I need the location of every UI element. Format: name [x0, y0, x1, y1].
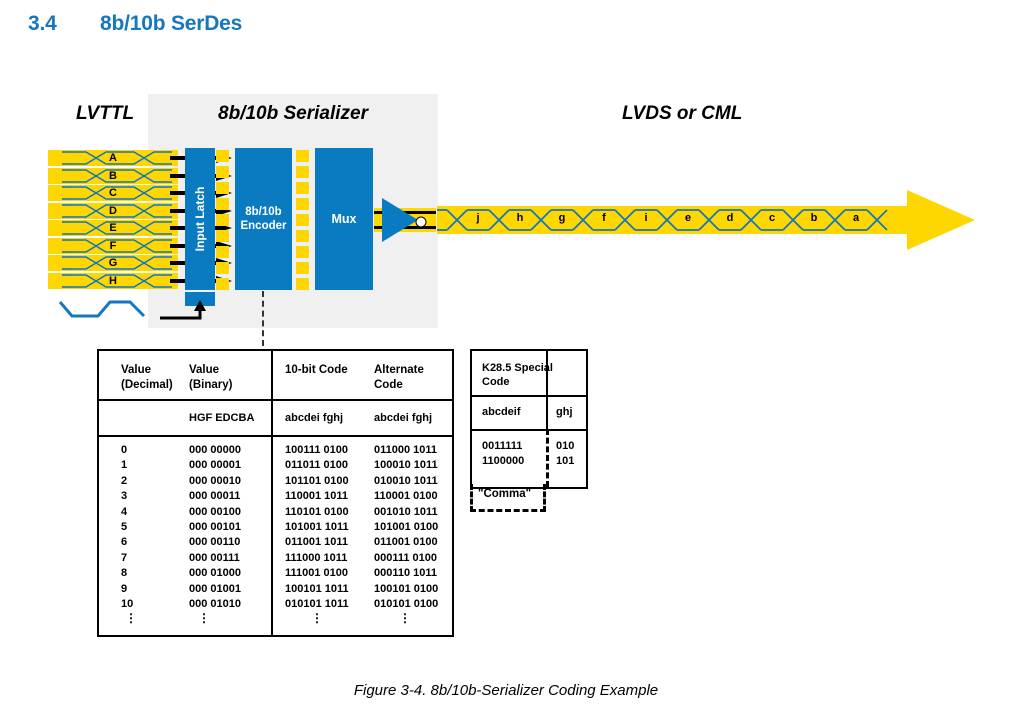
page-title: 3.48b/10b SerDes	[28, 12, 242, 36]
serial-bit: e	[680, 208, 696, 228]
table-cell-alternate: 011000 1011	[374, 443, 437, 457]
table-cell-binary: 000 00111	[189, 551, 240, 565]
table-cell-binary: 000 00100	[189, 505, 241, 519]
table-cell-alternate: 110001 0100	[374, 489, 438, 503]
sub-header-binary: HGF EDCBA	[189, 411, 254, 425]
serial-bit: c	[764, 208, 780, 228]
clock-connection-arrow	[160, 300, 212, 329]
bus-stub-segment	[216, 182, 229, 194]
table-cell-alternate: 001010 1011	[374, 505, 438, 519]
table-cell-decimal: 9	[121, 582, 127, 596]
table-cell-decimal: 0	[121, 443, 127, 457]
bus-stub-segment	[296, 214, 309, 226]
lane-label: H	[104, 273, 122, 289]
bus-stub-segment	[296, 150, 309, 162]
table-cell-binary: 000 01010	[189, 597, 241, 611]
serial-bit: j	[470, 208, 486, 228]
comma-label: "Comma"	[478, 488, 531, 500]
bus-stub-segment	[296, 230, 309, 242]
table-continuation-ellipsis: ⋮	[311, 616, 323, 620]
bus-stub-segment	[216, 278, 229, 290]
table-cell-decimal: 3	[121, 489, 127, 503]
k285-cell-ghj: 010	[556, 439, 574, 453]
bus-stub-segment	[216, 198, 229, 210]
table-cell-code: 111000 1011	[285, 551, 347, 565]
table-cell-binary: 000 00010	[189, 474, 241, 488]
table-cell-code: 011001 1011	[285, 535, 348, 549]
table-cell-decimal: 6	[121, 535, 127, 549]
lane-label: G	[104, 255, 122, 271]
bus-stub-segment	[296, 262, 309, 274]
encoder-to-table-connector	[262, 291, 264, 346]
table-cell-binary: 000 00001	[189, 458, 241, 472]
table-cell-binary: 000 01000	[189, 566, 241, 580]
table-cell-code: 101101 0100	[285, 474, 349, 488]
lane-label: D	[104, 203, 122, 219]
serial-bit: a	[848, 208, 864, 228]
table-continuation-ellipsis: ⋮	[399, 616, 411, 620]
table-cell-code: 100101 1011	[285, 582, 349, 596]
bus-stub-segment	[296, 166, 309, 178]
bus-stub-segment	[296, 246, 309, 258]
col-header-alternate-line1: Alternate	[374, 363, 424, 377]
bus-stub-segment	[296, 278, 309, 290]
table-cell-decimal: 10	[121, 597, 133, 611]
col-header-binary-line2: (Binary)	[189, 378, 232, 392]
serial-bit: i	[638, 208, 654, 228]
table-cell-alternate: 000111 0100	[374, 551, 437, 565]
label-serializer: 8b/10b Serializer	[218, 103, 368, 125]
table-cell-alternate: 100010 1011	[374, 458, 438, 472]
table-cell-decimal: 1	[121, 458, 127, 472]
serial-bit: f	[596, 208, 612, 228]
table-cell-code: 100111 0100	[285, 443, 348, 457]
k285-subheader-right: ghj	[556, 405, 573, 419]
k285-special-code-box: K28.5 Special Code abcdeif ghj 001111101…	[470, 349, 588, 489]
encoder-label-line2: Encoder	[240, 219, 286, 233]
bus-stub-segment	[216, 262, 229, 274]
col-header-binary-line1: Value	[189, 363, 219, 377]
lane-label: C	[104, 185, 122, 201]
bus-stub-segment	[216, 230, 229, 242]
serial-bit: h	[512, 208, 528, 228]
bus-stub-segment	[216, 150, 229, 162]
table-cell-code: 110101 0100	[285, 505, 349, 519]
code-table: Value (Decimal) Value (Binary) 10-bit Co…	[97, 349, 454, 637]
bus-stubs-latch-to-encoder	[216, 150, 229, 294]
bus-stubs-encoder-to-mux	[296, 150, 309, 294]
lane-label: F	[104, 238, 122, 254]
table-continuation-ellipsis: ⋮	[198, 616, 210, 620]
mux-label: Mux	[332, 212, 357, 226]
label-lvds-cml: LVDS or CML	[622, 103, 742, 125]
table-cell-alternate: 010101 0100	[374, 597, 438, 611]
serial-bit: b	[806, 208, 822, 228]
k285-cell-abcdeif: 0011111	[482, 439, 522, 453]
bus-stub-segment	[296, 198, 309, 210]
table-cell-code: 010101 1011	[285, 597, 349, 611]
table-cell-binary: 000 00110	[189, 535, 240, 549]
section-title: 8b/10b SerDes	[100, 12, 242, 35]
k285-cell-ghj: 101	[556, 454, 574, 468]
table-cell-alternate: 011001 0100	[374, 535, 438, 549]
input-latch-block: Input Latch	[185, 148, 215, 290]
serial-output-stream: jhgfiedcba	[437, 188, 977, 257]
table-cell-code: 101001 1011	[285, 520, 349, 534]
lane-label: A	[104, 150, 122, 166]
table-cell-alternate: 101001 0100	[374, 520, 438, 534]
table-cell-alternate: 010010 1011	[374, 474, 438, 488]
label-lvttl: LVTTL	[76, 103, 134, 125]
encoder-block: 8b/10b Encoder	[235, 148, 292, 290]
table-cell-decimal: 4	[121, 505, 127, 519]
table-cell-code: 110001 1011	[285, 489, 348, 503]
table-cell-decimal: 5	[121, 520, 127, 534]
sub-header-code: abcdei fghj	[285, 411, 343, 425]
bus-stub-segment	[216, 246, 229, 258]
line-driver-icon	[374, 196, 436, 249]
k285-title-line2: Code	[482, 375, 510, 389]
table-cell-decimal: 8	[121, 566, 127, 580]
serial-bit: g	[554, 208, 570, 228]
table-continuation-ellipsis: ⋮	[125, 616, 137, 620]
bus-stub-segment	[296, 182, 309, 194]
k285-cell-abcdeif: 1100000	[482, 454, 524, 468]
table-cell-code: 011011 0100	[285, 458, 348, 472]
table-cell-binary: 000 00011	[189, 489, 240, 503]
serial-bit: d	[722, 208, 738, 228]
mux-block: Mux	[315, 148, 373, 290]
table-cell-decimal: 7	[121, 551, 127, 565]
col-header-decimal-line1: Value	[121, 363, 151, 377]
table-cell-binary: 000 00000	[189, 443, 241, 457]
table-cell-alternate: 100101 0100	[374, 582, 438, 596]
lane-label: E	[104, 220, 122, 236]
encoder-label-line1: 8b/10b	[240, 205, 286, 219]
figure-caption: Figure 3-4. 8b/10b-Serializer Coding Exa…	[0, 682, 1012, 699]
clock-waveform-icon	[58, 296, 148, 329]
sub-header-alternate: abcdei fghj	[374, 411, 432, 425]
section-number: 3.4	[28, 12, 100, 36]
input-latch-label: Input Latch	[193, 187, 207, 252]
col-header-code: 10-bit Code	[285, 363, 348, 377]
col-header-decimal-line2: (Decimal)	[121, 378, 173, 392]
bus-stub-segment	[216, 214, 229, 226]
col-header-alternate-line2: Code	[374, 378, 403, 392]
bus-stub-segment	[216, 166, 229, 178]
table-cell-decimal: 2	[121, 474, 127, 488]
k285-title-line1: K28.5 Special	[482, 361, 553, 375]
k285-subheader-left: abcdeif	[482, 405, 521, 419]
table-cell-binary: 000 00101	[189, 520, 241, 534]
lane-label: B	[104, 168, 122, 184]
table-cell-code: 111001 0100	[285, 566, 348, 580]
table-cell-alternate: 000110 1011	[374, 566, 437, 580]
table-cell-binary: 000 01001	[189, 582, 241, 596]
